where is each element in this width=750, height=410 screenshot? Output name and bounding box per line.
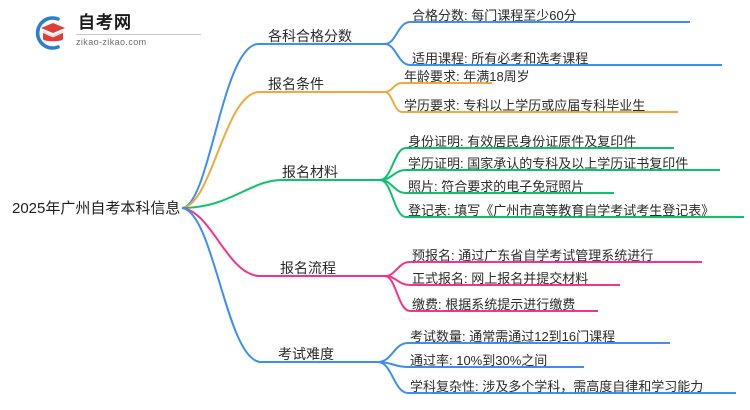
logo-name-cn: 自考网 <box>76 13 201 33</box>
leaf-node-education-requirement: 学历要求: 专科以上学历或应届专科毕业生 <box>404 95 645 114</box>
root-node: 2025年广州自考本科信息 <box>12 197 180 218</box>
branch-node-materials: 报名材料 <box>282 162 338 182</box>
leaf-node-education-proof: 学历证明: 国家承认的专科及以上学历证书复印件 <box>408 153 688 172</box>
leaf-node-pass-score: 合格分数: 每门课程至少60分 <box>412 5 577 24</box>
branch-node-scores: 各科合格分数 <box>268 26 352 46</box>
leaf-node-payment: 缴费: 根据系统提示进行缴费 <box>412 294 575 313</box>
leaf-node-formal-registration: 正式报名: 网上报名并提交材料 <box>412 268 588 287</box>
logo-url: zikao-zikao.com <box>76 37 201 48</box>
branch-node-process: 报名流程 <box>280 258 336 278</box>
leaf-node-applicable-courses: 适用课程: 所有必考和选考课程 <box>412 48 588 67</box>
leaf-node-subject-complexity: 学科复杂性: 涉及多个学科，需高度自律和学习能力 <box>410 376 703 395</box>
site-logo: 自考网 zikao-zikao.com <box>28 10 208 54</box>
mindmap-canvas: 自考网 zikao-zikao.com 2025年广州自考本科信息 各科合格分数… <box>0 0 750 410</box>
logo-text: 自考网 zikao-zikao.com <box>76 13 201 48</box>
leaf-node-age-requirement: 年龄要求: 年满18周岁 <box>404 66 530 85</box>
logo-divider <box>76 34 201 35</box>
leaf-node-registration-form: 登记表: 填写《广州市高等教育自学考试考生登记表》 <box>408 200 714 219</box>
leaf-node-pass-rate: 通过率: 10%到30%之间 <box>410 350 547 369</box>
graduation-cap-icon <box>28 12 70 54</box>
leaf-node-id-proof: 身份证明: 有效居民身份证原件及复印件 <box>408 131 636 150</box>
leaf-node-exam-count: 考试数量: 通常需通过12到16门课程 <box>410 326 615 345</box>
leaf-node-pre-registration: 预报名: 通过广东省自学考试管理系统进行 <box>412 245 653 264</box>
branch-node-conditions: 报名条件 <box>268 74 324 94</box>
leaf-node-photo: 照片: 符合要求的电子免冠照片 <box>408 176 584 195</box>
branch-node-difficulty: 考试难度 <box>278 344 334 364</box>
